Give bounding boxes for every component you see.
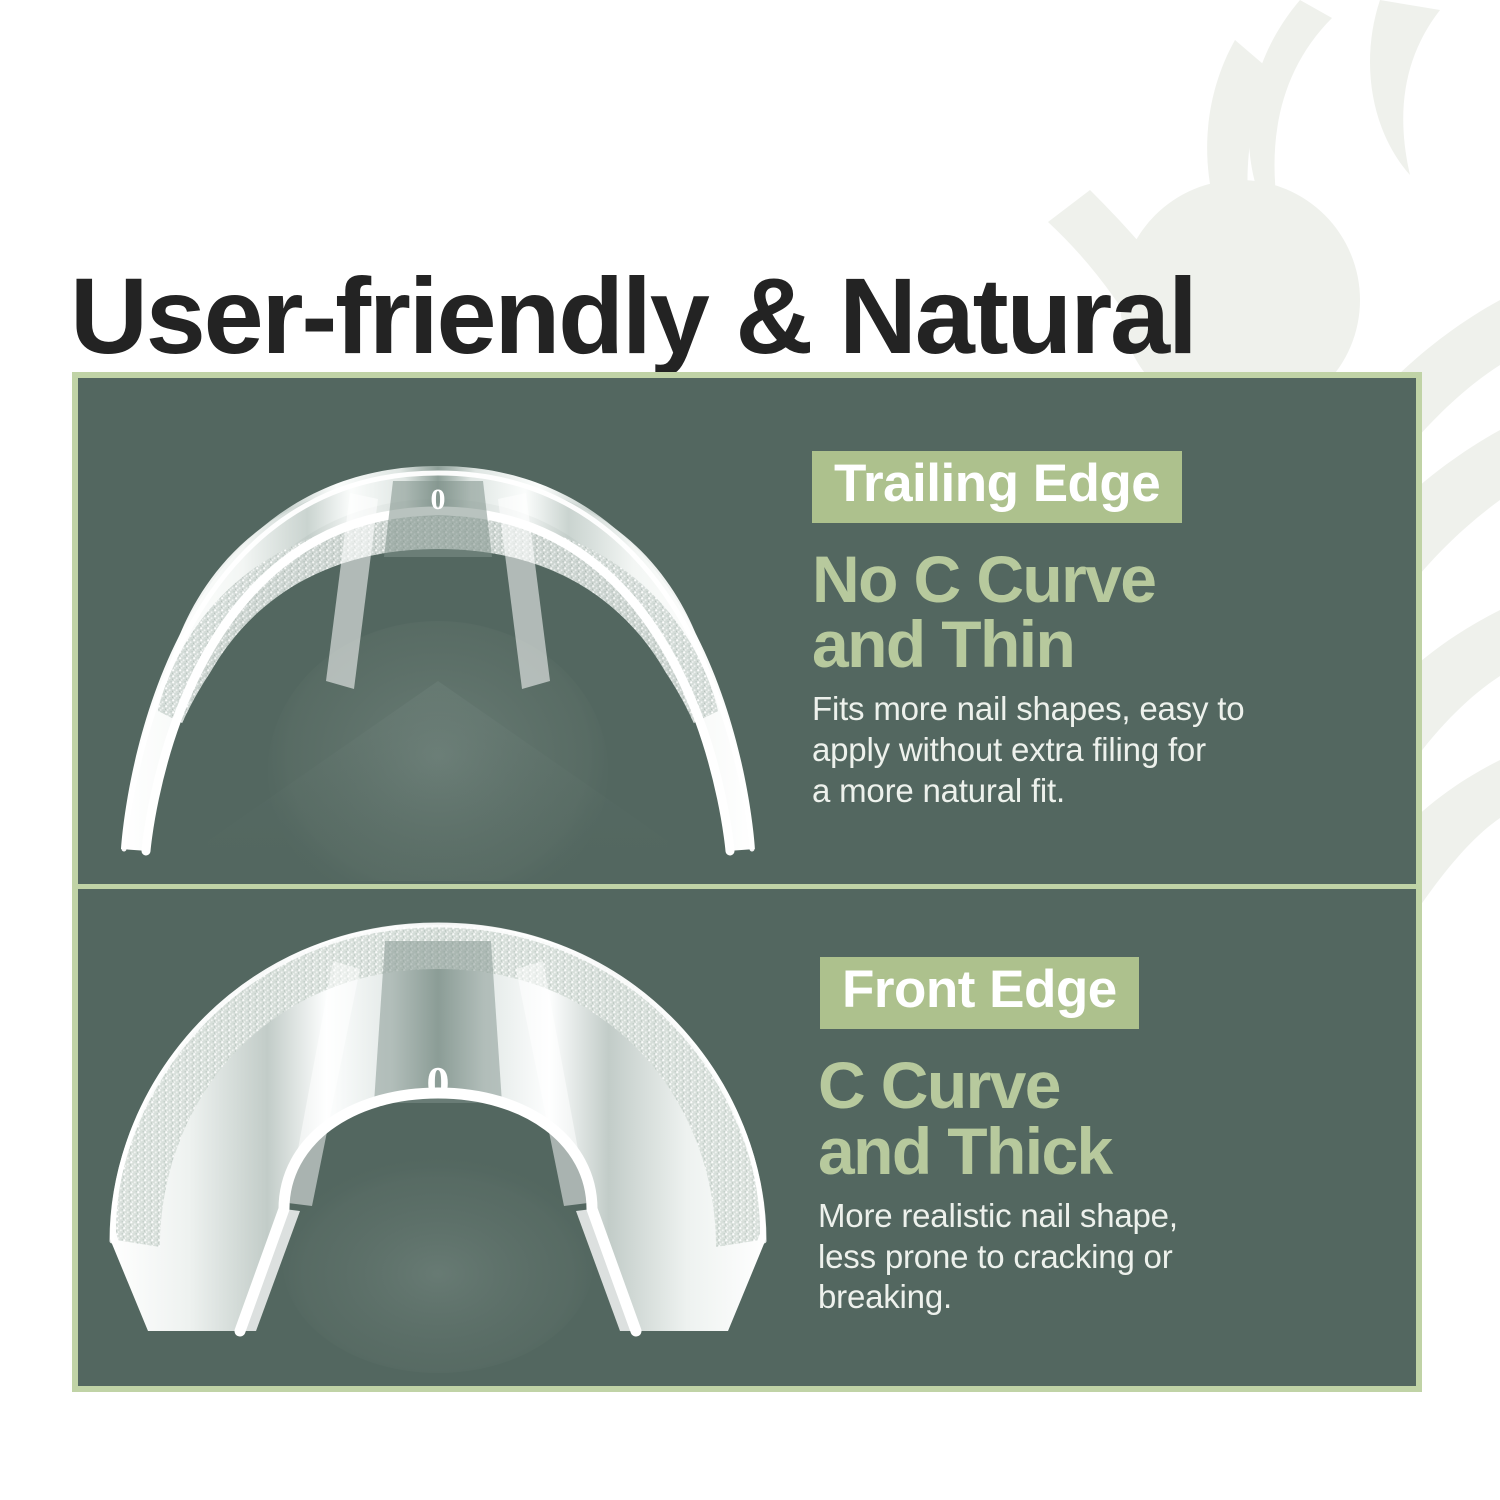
nail-tip-size-marking-bottom: 0: [427, 1057, 450, 1108]
badge-front-edge: Front Edge: [820, 957, 1139, 1029]
subhead-trailing-edge: No C Curve and Thin: [812, 547, 1386, 678]
page-title-line-1: User-friendly & Natural: [70, 255, 1196, 376]
nail-tip-front-edge-illustration: 0: [78, 889, 798, 1386]
panel-front-edge: 0 Front Edge C Curve and Thick More real…: [78, 889, 1416, 1386]
subhead-front-edge: C Curve and Thick: [818, 1053, 1386, 1184]
description-front-edge: More realistic nail shape, less prone to…: [818, 1196, 1358, 1318]
description-trailing-edge: Fits more nail shapes, easy to apply wit…: [812, 689, 1352, 811]
nail-tip-front-edge-icon: 0: [88, 903, 788, 1373]
copy-front-edge: Front Edge C Curve and Thick More realis…: [798, 957, 1416, 1317]
badge-trailing-edge: Trailing Edge: [812, 451, 1182, 523]
copy-trailing-edge: Trailing Edge No C Curve and Thin Fits m…: [798, 451, 1416, 811]
infographic-canvas: User-friendly & Natural Nail Shape Desig…: [0, 0, 1500, 1500]
nail-tip-trailing-edge-icon: 0: [88, 381, 788, 881]
nail-tip-trailing-edge-illustration: 0: [78, 378, 798, 884]
panel-trailing-edge: 0 Trailing Edge No C Curve and Thin Fits…: [78, 378, 1416, 889]
comparison-card: 0 Trailing Edge No C Curve and Thin Fits…: [72, 372, 1422, 1392]
nail-tip-size-marking-top: 0: [431, 483, 446, 516]
